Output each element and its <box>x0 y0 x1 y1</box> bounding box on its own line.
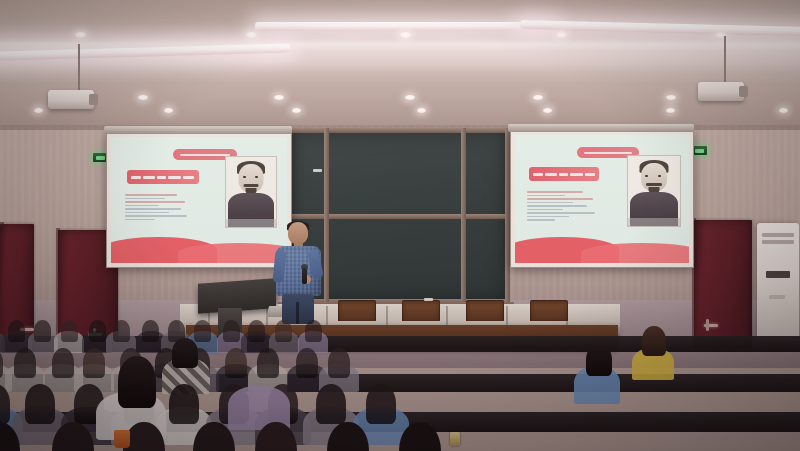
ceiling <box>0 0 800 132</box>
lecture-hall-photo <box>0 0 800 451</box>
student-head <box>586 344 612 376</box>
projector-rod <box>78 44 80 92</box>
ac-display-panel[interactable] <box>766 271 790 278</box>
left-screen-housing <box>104 126 292 134</box>
handheld-microphone[interactable] <box>302 268 307 284</box>
student-head <box>316 384 346 424</box>
ceiling-downlight <box>274 95 284 100</box>
portrait-moustache <box>244 184 259 187</box>
student-head <box>142 320 159 342</box>
student-head <box>248 320 265 342</box>
projector-body <box>698 82 744 101</box>
student-head <box>169 384 199 424</box>
student-head <box>52 348 74 378</box>
portrait-eye <box>255 176 258 178</box>
orange-cup <box>114 430 130 448</box>
board-frame-middle <box>283 214 510 219</box>
left-projection-screen <box>106 132 292 268</box>
student-head <box>305 320 322 342</box>
left-slide <box>111 137 287 263</box>
ceiling-downlight <box>405 95 415 100</box>
student-head <box>25 384 55 424</box>
projector-lens-icon <box>739 86 748 97</box>
portrait-eye <box>243 176 246 178</box>
student-head <box>172 338 198 368</box>
ceiling-downlight <box>543 108 552 113</box>
portrait-caption <box>628 218 680 226</box>
student-head <box>34 320 51 342</box>
ac-vent <box>762 233 794 237</box>
right-slide-title <box>529 167 599 181</box>
ceiling-downlight <box>34 108 43 113</box>
student-head <box>296 348 318 378</box>
student-head <box>8 320 25 342</box>
student-head <box>14 348 36 378</box>
left-slide-wave-decoration <box>111 235 287 263</box>
student-head <box>642 326 666 356</box>
student-head <box>194 320 211 342</box>
ac-lower-vent <box>769 295 785 299</box>
board-frame-div2 <box>461 128 466 304</box>
student-head <box>83 348 105 378</box>
chalk-piece[interactable] <box>313 169 322 172</box>
ceiling-downlight <box>292 108 301 113</box>
left-slide-bullets <box>125 194 199 220</box>
left-slide-title <box>127 170 199 184</box>
ceiling-strip-light-center <box>255 22 555 31</box>
portrait-moustache <box>646 183 662 186</box>
right-slide-portrait <box>627 155 681 227</box>
ceiling-downlight <box>164 108 173 113</box>
student-head <box>118 356 156 408</box>
hair-clip <box>450 432 460 446</box>
board-frame-div1 <box>324 128 329 304</box>
board-frame-top <box>283 128 510 133</box>
projector-rod <box>724 36 726 84</box>
right-slide-bullets <box>527 191 607 221</box>
student-head <box>225 348 247 378</box>
portrait-caption <box>226 219 276 227</box>
student-head <box>61 320 78 342</box>
portrait-eye <box>645 175 648 177</box>
ceiling-downlight <box>666 95 676 100</box>
right-projection-screen <box>510 130 694 268</box>
student-head <box>328 348 350 378</box>
student-head <box>223 320 240 342</box>
projector-lens-icon <box>89 94 98 105</box>
ceiling-downlight <box>138 95 148 100</box>
ceiling-downlight <box>246 32 257 38</box>
left-slide-portrait <box>225 156 277 228</box>
ceiling-downlight <box>556 32 567 38</box>
student-head <box>275 320 292 342</box>
student-head <box>113 320 130 342</box>
ceiling-downlight <box>779 108 788 113</box>
presenter-head <box>288 222 308 244</box>
portrait-eye <box>658 175 661 177</box>
student-head <box>366 384 396 424</box>
right-exit-sign <box>692 146 707 155</box>
ceiling-downlight <box>417 108 426 113</box>
student-head <box>257 348 279 378</box>
right-slide-wave-decoration <box>515 235 689 263</box>
right-slide <box>515 135 689 263</box>
projector-body <box>48 90 94 109</box>
ceiling-downlight <box>533 95 543 100</box>
ac-vent <box>762 240 794 244</box>
ceiling-downlight <box>400 32 411 38</box>
student-head <box>89 320 106 342</box>
right-screen-housing <box>508 124 694 132</box>
ceiling-downlight <box>75 32 86 38</box>
ceiling-downlight <box>666 108 675 113</box>
seated-students <box>0 300 800 451</box>
